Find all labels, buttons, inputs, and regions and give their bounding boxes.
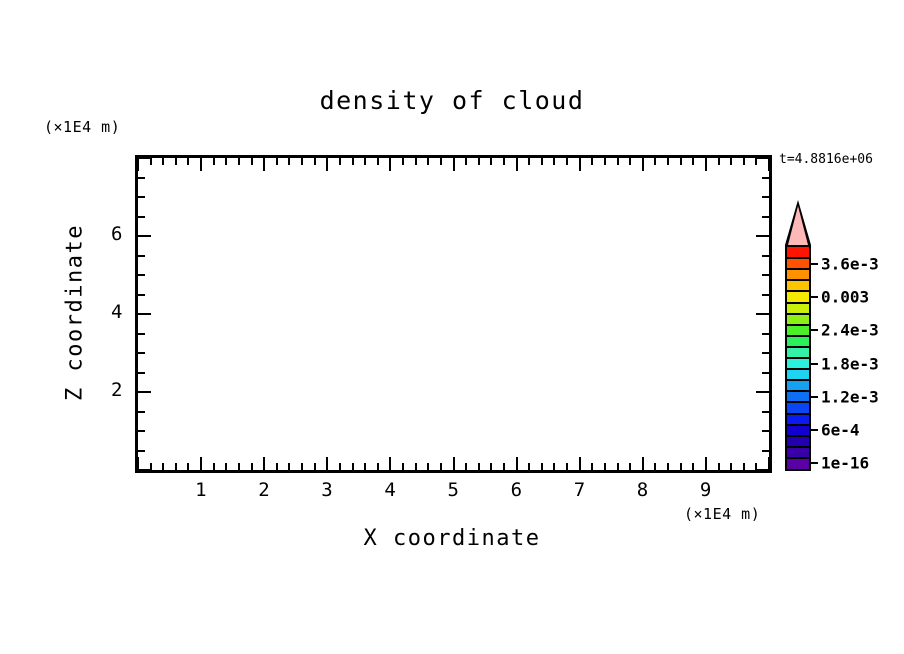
x-axis-tick xyxy=(667,463,669,470)
x-axis-tick xyxy=(591,158,593,165)
y-axis-unit-label: (×1E4 m) xyxy=(44,118,120,136)
x-axis-tick xyxy=(314,158,316,165)
x-axis-tick xyxy=(238,158,240,165)
y-axis-tick xyxy=(138,411,145,413)
x-axis-tick-label: 5 xyxy=(448,479,459,501)
colorbar-tick-label: 0.003 xyxy=(821,287,869,306)
x-axis-tick xyxy=(440,463,442,470)
x-axis-tick xyxy=(566,158,568,165)
x-axis-unit-label: (×1E4 m) xyxy=(684,505,760,523)
x-axis-tick xyxy=(137,158,139,171)
x-axis-tick xyxy=(364,463,366,470)
x-axis-tick xyxy=(642,457,644,470)
y-axis-tick xyxy=(138,196,145,198)
y-axis-tick xyxy=(756,235,769,237)
x-axis-tick xyxy=(692,463,694,470)
x-axis-tick xyxy=(503,463,505,470)
y-axis-tick-label: 6 xyxy=(111,223,122,245)
colorbar-tick xyxy=(811,462,818,464)
y-axis-tick xyxy=(138,313,151,315)
x-axis-tick xyxy=(490,158,492,165)
y-axis-tick xyxy=(138,274,145,276)
x-axis-tick xyxy=(718,158,720,165)
y-axis-tick xyxy=(138,372,145,374)
colorbar-band-separator xyxy=(785,302,811,304)
x-axis-tick xyxy=(377,463,379,470)
colorbar-band-separator xyxy=(785,390,811,392)
x-axis-tick xyxy=(364,158,366,165)
x-axis-tick xyxy=(453,457,455,470)
y-axis-tick xyxy=(138,352,145,354)
x-axis-tick xyxy=(162,463,164,470)
colorbar-tick xyxy=(811,329,818,331)
y-axis-tick xyxy=(138,157,151,159)
x-axis-tick xyxy=(326,158,328,171)
x-axis-tick xyxy=(566,463,568,470)
x-axis-tick xyxy=(768,158,770,171)
colorbar-tick xyxy=(811,263,818,265)
colorbar-band-separator xyxy=(785,457,811,459)
y-axis-tick xyxy=(762,196,769,198)
colorbar-tick-label: 1.2e-3 xyxy=(821,387,879,406)
x-axis-tick xyxy=(301,158,303,165)
x-axis-tick xyxy=(743,158,745,165)
y-axis-tick xyxy=(138,255,145,257)
colorbar-band-separator xyxy=(785,335,811,337)
x-axis-tick xyxy=(251,463,253,470)
colorbar-band-separator xyxy=(785,268,811,270)
colorbar-tick-label: 1e-16 xyxy=(821,454,869,473)
x-axis-tick xyxy=(389,158,391,171)
x-axis-tick xyxy=(617,158,619,165)
x-axis-tick-label: 4 xyxy=(384,479,395,501)
x-axis-tick xyxy=(528,463,530,470)
colorbar-band-separator xyxy=(785,446,811,448)
x-axis-tick xyxy=(162,158,164,165)
x-axis-tick xyxy=(288,158,290,165)
colorbar-band-separator xyxy=(785,313,811,315)
colorbar-band-separator xyxy=(785,346,811,348)
y-axis-tick xyxy=(756,391,769,393)
colorbar-tick xyxy=(811,296,818,298)
x-axis-tick xyxy=(225,463,227,470)
y-axis-tick xyxy=(762,216,769,218)
x-axis-tick xyxy=(415,463,417,470)
x-axis-tick xyxy=(528,158,530,165)
x-axis-tick xyxy=(478,463,480,470)
x-axis-tick xyxy=(579,158,581,171)
x-axis-tick-label: 8 xyxy=(637,479,648,501)
x-axis-tick xyxy=(150,158,152,165)
x-axis-tick xyxy=(617,463,619,470)
colorbar-tick-label: 1.8e-3 xyxy=(821,354,879,373)
x-axis-tick xyxy=(730,158,732,165)
colorbar-band-separator xyxy=(785,368,811,370)
colorbar-tick xyxy=(811,363,818,365)
x-axis-tick-label: 3 xyxy=(321,479,332,501)
x-axis-tick xyxy=(553,158,555,165)
x-axis-tick xyxy=(730,463,732,470)
y-axis-tick xyxy=(138,177,145,179)
colorbar-band-separator xyxy=(785,379,811,381)
x-axis-tick xyxy=(465,158,467,165)
chart-title: density of cloud xyxy=(0,86,904,115)
y-axis-tick xyxy=(138,391,151,393)
y-axis-tick xyxy=(138,450,145,452)
y-axis-tick xyxy=(138,216,145,218)
x-axis-tick xyxy=(440,158,442,165)
x-axis-tick xyxy=(755,158,757,165)
y-axis-tick xyxy=(762,294,769,296)
x-axis-tick xyxy=(251,158,253,165)
x-axis-tick xyxy=(604,158,606,165)
x-axis-tick-label: 2 xyxy=(258,479,269,501)
x-axis-tick xyxy=(200,158,202,171)
y-axis-tick xyxy=(138,333,145,335)
x-axis-tick xyxy=(314,463,316,470)
colorbar: 1e-166e-41.2e-31.8e-32.4e-30.0033.6e-3 xyxy=(781,200,901,480)
colorbar-over-arrow-fill xyxy=(788,206,808,245)
x-axis-tick xyxy=(263,158,265,171)
x-axis-tick xyxy=(743,463,745,470)
x-axis-tick xyxy=(692,158,694,165)
x-axis-tick xyxy=(718,463,720,470)
x-axis-tick xyxy=(427,463,429,470)
x-axis-tick xyxy=(200,457,202,470)
x-axis-tick xyxy=(465,463,467,470)
colorbar-tick xyxy=(811,429,818,431)
x-axis-tick xyxy=(175,463,177,470)
x-axis-tick xyxy=(187,158,189,165)
x-axis-tick xyxy=(339,158,341,165)
x-axis-tick xyxy=(352,463,354,470)
y-axis-tick xyxy=(138,430,145,432)
x-axis-tick xyxy=(516,457,518,470)
x-axis-tick xyxy=(213,158,215,165)
x-axis-tick xyxy=(541,158,543,165)
x-axis-tick xyxy=(175,158,177,165)
x-axis-tick xyxy=(516,158,518,171)
x-axis-tick xyxy=(629,463,631,470)
x-axis-tick xyxy=(415,158,417,165)
colorbar-band-separator xyxy=(785,401,811,403)
colorbar-band-separator xyxy=(785,435,811,437)
colorbar-tick-label: 2.4e-3 xyxy=(821,321,879,340)
x-axis-tick xyxy=(389,457,391,470)
x-axis-tick xyxy=(402,158,404,165)
x-axis-tick xyxy=(238,463,240,470)
colorbar-band-separator xyxy=(785,324,811,326)
colorbar-tick-label: 3.6e-3 xyxy=(821,254,879,273)
x-axis-tick xyxy=(591,463,593,470)
y-axis-tick xyxy=(762,372,769,374)
x-axis-tick xyxy=(503,158,505,165)
y-axis-tick xyxy=(762,411,769,413)
x-axis-tick xyxy=(705,158,707,171)
x-axis-tick-label: 1 xyxy=(195,479,206,501)
x-axis-tick xyxy=(579,457,581,470)
colorbar-band-separator xyxy=(785,257,811,259)
x-axis-title: X coordinate xyxy=(0,526,904,551)
x-axis-tick xyxy=(667,158,669,165)
x-axis-tick xyxy=(453,158,455,171)
x-axis-tick xyxy=(276,158,278,165)
y-axis-tick xyxy=(762,274,769,276)
x-axis-tick xyxy=(553,463,555,470)
x-axis-tick xyxy=(541,463,543,470)
y-axis-tick xyxy=(138,469,151,471)
colorbar-band-separator xyxy=(785,290,811,292)
y-axis-tick-label: 4 xyxy=(111,301,122,323)
x-axis-tick xyxy=(642,158,644,171)
x-axis-tick-label: 7 xyxy=(574,479,585,501)
x-axis-tick xyxy=(225,158,227,165)
x-axis-tick xyxy=(288,463,290,470)
y-axis-tick xyxy=(762,450,769,452)
x-axis-tick xyxy=(654,463,656,470)
y-axis-tick xyxy=(762,177,769,179)
colorbar-tick xyxy=(811,396,818,398)
x-axis-tick xyxy=(339,463,341,470)
y-axis-tick xyxy=(756,469,769,471)
y-axis-tick xyxy=(756,157,769,159)
colorbar-band xyxy=(787,458,809,469)
x-axis-tick xyxy=(680,463,682,470)
y-axis-tick xyxy=(138,294,145,296)
x-axis-tick xyxy=(478,158,480,165)
x-axis-tick xyxy=(705,457,707,470)
plot-frame xyxy=(135,155,772,473)
x-axis-tick xyxy=(377,158,379,165)
x-axis-tick xyxy=(263,457,265,470)
x-axis-tick xyxy=(604,463,606,470)
x-axis-tick xyxy=(680,158,682,165)
colorbar-band-separator xyxy=(785,413,811,415)
y-axis-tick xyxy=(762,430,769,432)
x-axis-tick xyxy=(427,158,429,165)
y-axis-title: Z coordinate xyxy=(63,213,88,413)
y-axis-tick-label: 2 xyxy=(111,379,122,401)
x-axis-tick-label: 6 xyxy=(511,479,522,501)
x-axis-tick xyxy=(654,158,656,165)
colorbar-band-separator xyxy=(785,424,811,426)
x-axis-tick xyxy=(301,463,303,470)
timestamp-annotation: t=4.8816e+06 xyxy=(779,152,873,167)
y-axis-tick xyxy=(762,333,769,335)
colorbar-tick-label: 6e-4 xyxy=(821,421,860,440)
colorbar-band-separator xyxy=(785,357,811,359)
y-axis-tick xyxy=(756,313,769,315)
x-axis-tick xyxy=(402,463,404,470)
x-axis-tick xyxy=(326,457,328,470)
y-axis-tick xyxy=(762,352,769,354)
colorbar-band-separator xyxy=(785,279,811,281)
y-axis-tick xyxy=(138,235,151,237)
x-axis-tick-label: 9 xyxy=(700,479,711,501)
y-axis-tick xyxy=(762,255,769,257)
x-axis-tick xyxy=(187,463,189,470)
x-axis-tick xyxy=(213,463,215,470)
x-axis-tick xyxy=(490,463,492,470)
x-axis-tick xyxy=(629,158,631,165)
x-axis-tick xyxy=(352,158,354,165)
x-axis-tick xyxy=(276,463,278,470)
